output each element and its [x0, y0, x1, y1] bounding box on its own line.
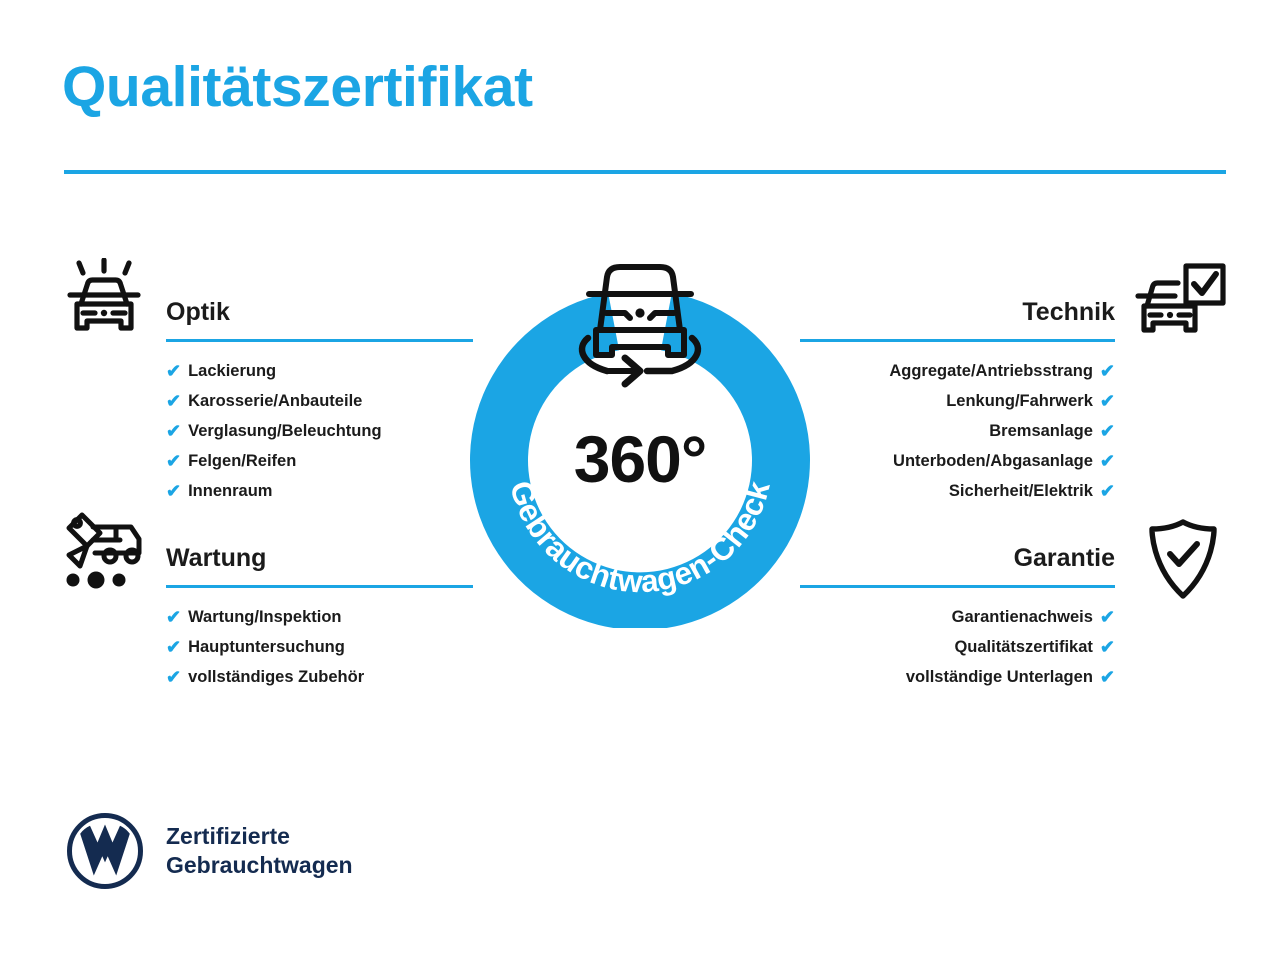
list-item: Sicherheit/Elektrik ✔ [800, 476, 1115, 506]
list-item-label: Hauptuntersuchung [188, 632, 345, 662]
list-item-label: Karosserie/Anbauteile [188, 386, 362, 416]
list-item-label: Lackierung [188, 356, 276, 386]
check-icon: ✔ [1100, 392, 1115, 410]
badge-degrees-label: 360° [574, 422, 707, 496]
list-item-label: Qualitätszertifikat [954, 632, 1092, 662]
check-icon: ✔ [166, 668, 181, 686]
list-item: Unterboden/Abgasanlage ✔ [800, 446, 1115, 476]
section-title-optik: Optik [166, 296, 473, 328]
list-item-label: vollständige Unterlagen [906, 662, 1093, 692]
car-rotate-icon [582, 267, 698, 384]
section-rule-technik [800, 339, 1115, 342]
check-list-technik: Aggregate/Antriebsstrang ✔ Lenkung/Fahrw… [800, 356, 1115, 506]
section-wartung: Wartung ✔ Wartung/Inspektion ✔ Hauptunte… [166, 542, 473, 692]
check-icon: ✔ [166, 452, 181, 470]
list-item: Lenkung/Fahrwerk ✔ [800, 386, 1115, 416]
list-item: Aggregate/Antriebsstrang ✔ [800, 356, 1115, 386]
list-item-label: Verglasung/Beleuchtung [188, 416, 381, 446]
list-item-label: Wartung/Inspektion [188, 602, 341, 632]
car-service-pen-icon [60, 506, 148, 595]
check-icon: ✔ [166, 422, 181, 440]
check-icon: ✔ [166, 482, 181, 500]
list-item: ✔ Verglasung/Beleuchtung [166, 416, 473, 446]
volkswagen-logo-icon [66, 812, 144, 890]
list-item: Garantienachweis ✔ [800, 602, 1115, 632]
list-item-label: Innenraum [188, 476, 272, 506]
section-rule-garantie [800, 585, 1115, 588]
list-item: ✔ Lackierung [166, 356, 473, 386]
section-technik: Technik Aggregate/Antriebsstrang ✔ Lenku… [800, 296, 1115, 506]
section-header-garantie: Garantie [800, 542, 1115, 588]
section-garantie: Garantie Garantienachweis ✔ Qualitätszer… [800, 542, 1115, 692]
check-icon: ✔ [1100, 422, 1115, 440]
footer-logo-block: Zertifizierte Gebrauchtwagen [66, 812, 353, 890]
list-item: Qualitätszertifikat ✔ [800, 632, 1115, 662]
check-icon: ✔ [1100, 638, 1115, 656]
badge-360-gebrauchtwagen-check: Gebrauchtwagen-Check 360° [462, 252, 818, 628]
car-checkbox-icon [1133, 262, 1227, 347]
section-optik: Optik ✔ Lackierung ✔ Karosserie/Anbautei… [166, 296, 473, 506]
check-list-optik: ✔ Lackierung ✔ Karosserie/Anbauteile ✔ V… [166, 356, 473, 506]
check-icon: ✔ [166, 392, 181, 410]
check-icon: ✔ [166, 362, 181, 380]
check-icon: ✔ [1100, 452, 1115, 470]
list-item-label: Sicherheit/Elektrik [949, 476, 1093, 506]
certificate-page: Qualitätszertifikat [0, 0, 1280, 960]
footer-logo-text: Zertifizierte Gebrauchtwagen [166, 822, 353, 880]
check-list-garantie: Garantienachweis ✔ Qualitätszertifikat ✔… [800, 602, 1115, 692]
section-rule-wartung [166, 585, 473, 588]
check-icon: ✔ [166, 608, 181, 626]
list-item: ✔ vollständiges Zubehör [166, 662, 473, 692]
check-icon: ✔ [166, 638, 181, 656]
shield-check-icon [1146, 518, 1220, 605]
section-rule-optik [166, 339, 473, 342]
list-item-label: Unterboden/Abgasanlage [893, 446, 1093, 476]
list-item-label: Felgen/Reifen [188, 446, 296, 476]
list-item: ✔ Felgen/Reifen [166, 446, 473, 476]
list-item-label: vollständiges Zubehör [188, 662, 364, 692]
list-item: ✔ Innenraum [166, 476, 473, 506]
check-icon: ✔ [1100, 362, 1115, 380]
section-header-optik: Optik [166, 296, 473, 342]
list-item-label: Bremsanlage [989, 416, 1093, 446]
list-item: Bremsanlage ✔ [800, 416, 1115, 446]
check-icon: ✔ [1100, 668, 1115, 686]
list-item-label: Lenkung/Fahrwerk [946, 386, 1093, 416]
list-item-label: Aggregate/Antriebsstrang [889, 356, 1093, 386]
section-title-garantie: Garantie [800, 542, 1115, 574]
section-header-technik: Technik [800, 296, 1115, 342]
list-item: ✔ Karosserie/Anbauteile [166, 386, 473, 416]
car-shine-icon [62, 258, 146, 347]
page-title: Qualitätszertifikat [62, 58, 533, 118]
list-item: ✔ Wartung/Inspektion [166, 602, 473, 632]
title-divider [64, 170, 1226, 174]
list-item-label: Garantienachweis [952, 602, 1093, 632]
check-list-wartung: ✔ Wartung/Inspektion ✔ Hauptuntersuchung… [166, 602, 473, 692]
section-title-technik: Technik [800, 296, 1115, 328]
list-item: vollständige Unterlagen ✔ [800, 662, 1115, 692]
check-icon: ✔ [1100, 482, 1115, 500]
list-item: ✔ Hauptuntersuchung [166, 632, 473, 662]
check-icon: ✔ [1100, 608, 1115, 626]
section-header-wartung: Wartung [166, 542, 473, 588]
section-title-wartung: Wartung [166, 542, 473, 574]
